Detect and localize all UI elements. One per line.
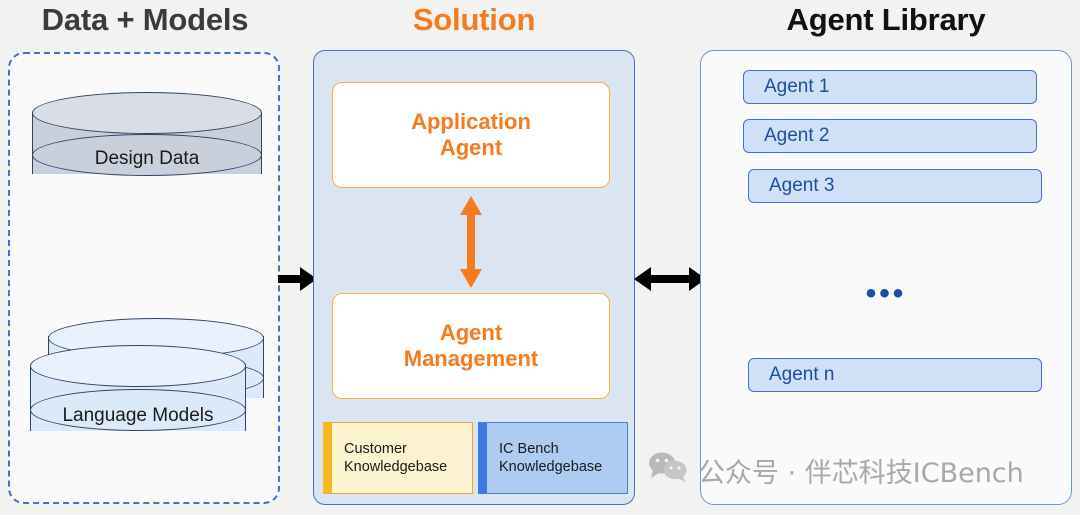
agent-library-item-1[interactable]: Agent 1	[743, 70, 1037, 104]
arrow-data-to-solution	[278, 265, 318, 293]
cylinder-label-design-data: Design Data	[32, 148, 262, 170]
column-title-data-models: Data + Models	[0, 2, 290, 38]
column-title-agent-library: Agent Library	[700, 2, 1072, 38]
wechat-icon	[648, 451, 688, 490]
diagram-canvas: Data + Models Solution Agent Library Des…	[0, 0, 1080, 515]
agent-library-item-3[interactable]: Agent 3	[748, 169, 1042, 203]
card-ic-bench-knowledgebase[interactable]: IC Bench Knowledgebase	[478, 422, 628, 494]
agent-library-ellipsis: •••	[700, 280, 1072, 308]
agent-library-item-2[interactable]: Agent 2	[743, 119, 1037, 153]
watermark-text: 公众号 · 伴芯科技ICBench	[698, 451, 1024, 490]
cylinder-top	[30, 345, 246, 387]
column-title-solution: Solution	[313, 2, 635, 38]
cylinder-language-models: Language Models	[30, 345, 246, 451]
box-application-agent[interactable]: Application Agent	[332, 82, 610, 188]
agent-library-item-n[interactable]: Agent n	[748, 358, 1042, 392]
card-customer-knowledgebase[interactable]: Customer Knowledgebase	[323, 422, 473, 494]
arrow-solution-agent-library	[634, 262, 706, 296]
cylinder-label-language-models: Language Models	[30, 405, 246, 427]
arrow-application-agent-management	[455, 196, 487, 288]
watermark: 公众号 · 伴芯科技ICBench	[648, 448, 1024, 492]
box-agent-management[interactable]: Agent Management	[332, 293, 610, 399]
cylinder-top	[32, 92, 262, 134]
cylinder-design-data: Design Data	[32, 92, 262, 192]
